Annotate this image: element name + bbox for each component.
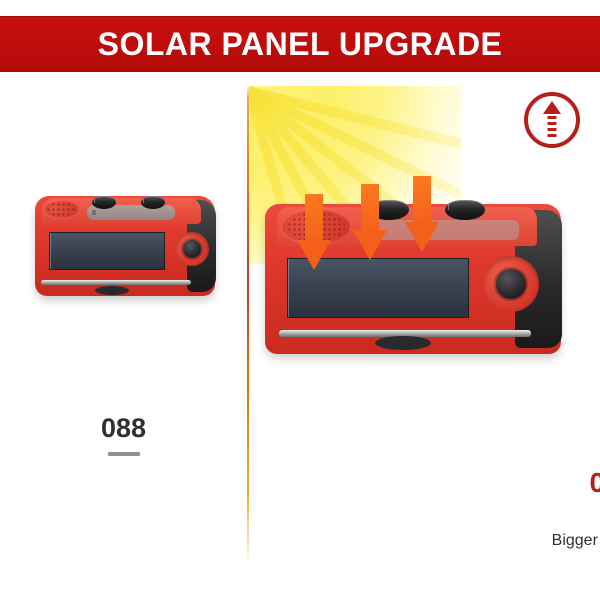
product-caption-old: 088: [0, 414, 247, 456]
radio-foot: [375, 336, 431, 350]
arrow-head: [353, 230, 387, 260]
arrow-shaft: [305, 194, 323, 242]
arrow-head: [297, 240, 331, 270]
speaker-grille-icon: [43, 200, 79, 219]
comparison-panel-new: 086 Upgrade Bigger solar panel, faster c…: [249, 84, 600, 584]
arrow-shaft: [361, 184, 379, 232]
flashlight-lens: [183, 240, 201, 258]
arrow-head: [405, 222, 439, 252]
volume-knob: [141, 196, 165, 209]
product-label-088: 088: [0, 414, 247, 444]
solar-radio-088-image: [35, 196, 215, 296]
button-row: [369, 220, 519, 240]
product-description: Bigger solar panel, faster charging: [498, 531, 600, 550]
charging-arrow: [297, 194, 331, 272]
product-label-086: 086 Upgrade: [498, 468, 600, 499]
tuning-knob: [92, 196, 116, 209]
comparison-panel-old: 088: [0, 84, 247, 584]
caption-underline: [108, 452, 140, 456]
solar-panel: [49, 232, 165, 270]
header-banner: SOLAR PANEL UPGRADE: [0, 16, 600, 72]
product-caption-new: 086 Upgrade Bigger solar panel, faster c…: [498, 468, 600, 550]
arrow-shaft: [413, 176, 431, 224]
charging-arrow: [353, 184, 387, 262]
flashlight-dial: [483, 256, 539, 312]
volume-knob: [445, 200, 485, 220]
charging-arrow: [405, 176, 439, 254]
radio-foot: [95, 286, 129, 295]
page-title: SOLAR PANEL UPGRADE: [98, 28, 503, 60]
antenna: [41, 280, 191, 285]
flashlight-dial: [175, 232, 209, 266]
flashlight-lens: [496, 269, 525, 298]
